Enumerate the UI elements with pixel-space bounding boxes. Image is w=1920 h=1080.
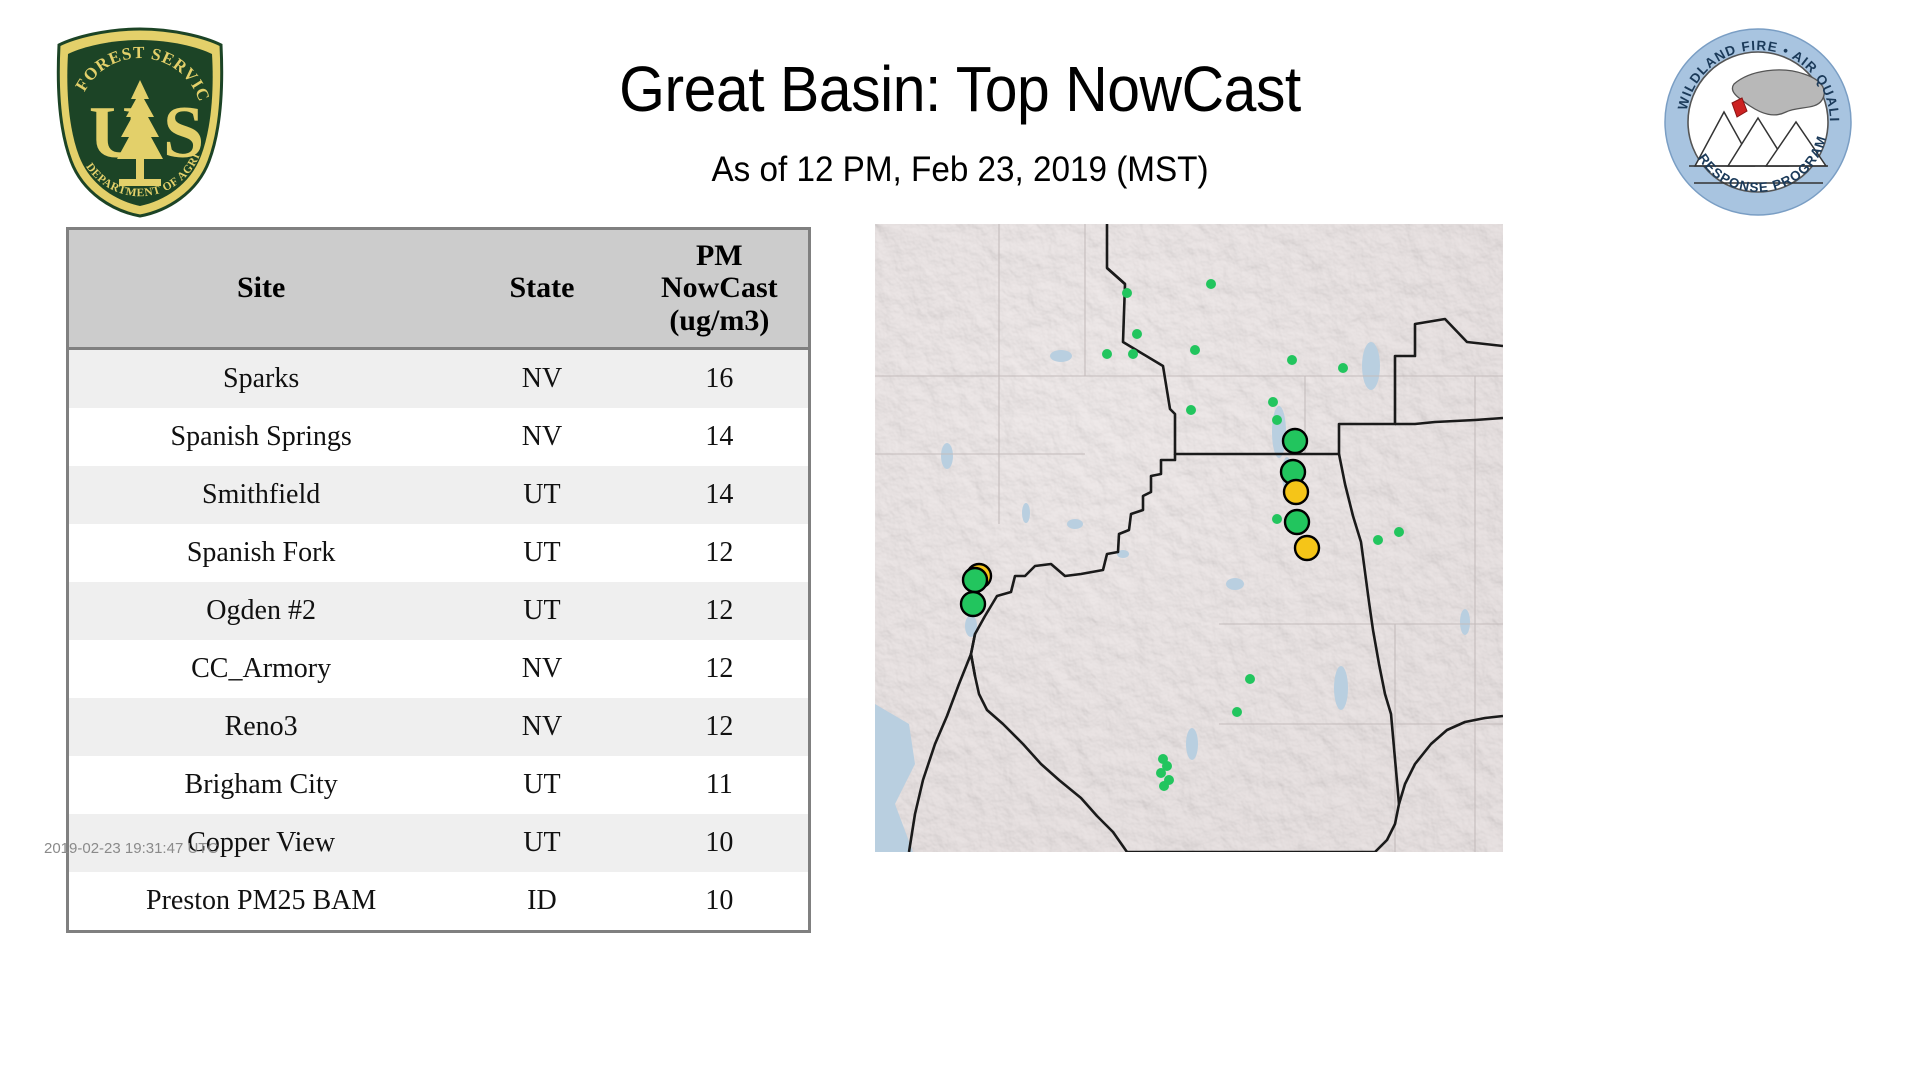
cell-pm-nowcast: 14 bbox=[631, 408, 808, 466]
cell-site: Brigham City bbox=[69, 756, 453, 814]
monitor-marker[interactable] bbox=[1272, 415, 1282, 425]
monitor-marker[interactable] bbox=[1272, 514, 1282, 524]
monitor-marker[interactable] bbox=[1156, 768, 1166, 778]
column-header-pm-line2: NowCast bbox=[661, 271, 778, 304]
monitor-marker[interactable] bbox=[1268, 397, 1278, 407]
table-row[interactable]: Spanish ForkUT12 bbox=[69, 524, 808, 582]
table-row[interactable]: Brigham CityUT11 bbox=[69, 756, 808, 814]
monitor-map-panel[interactable] bbox=[875, 224, 1503, 852]
cell-site: Reno3 bbox=[69, 698, 453, 756]
table-row[interactable]: SmithfieldUT14 bbox=[69, 466, 808, 524]
cell-pm-nowcast: 12 bbox=[631, 524, 808, 582]
monitor-marker[interactable] bbox=[961, 592, 985, 616]
page-subtitle: As of 12 PM, Feb 23, 2019 (MST) bbox=[48, 150, 1872, 190]
cell-site: Smithfield bbox=[69, 466, 453, 524]
cell-site: CC_Armory bbox=[69, 640, 453, 698]
cell-state: UT bbox=[453, 466, 630, 524]
monitor-marker[interactable] bbox=[1102, 349, 1112, 359]
table-row[interactable]: Ogden #2UT12 bbox=[69, 582, 808, 640]
cell-pm-nowcast: 12 bbox=[631, 640, 808, 698]
table-row[interactable]: SparksNV16 bbox=[69, 349, 808, 409]
cell-pm-nowcast: 12 bbox=[631, 698, 808, 756]
cell-pm-nowcast: 12 bbox=[631, 582, 808, 640]
monitor-marker[interactable] bbox=[1206, 279, 1216, 289]
cell-state: ID bbox=[453, 872, 630, 930]
monitor-marker[interactable] bbox=[1122, 288, 1132, 298]
monitor-marker[interactable] bbox=[1394, 527, 1404, 537]
monitor-marker[interactable] bbox=[1186, 405, 1196, 415]
monitor-marker[interactable] bbox=[1159, 781, 1169, 791]
cell-state: NV bbox=[453, 698, 630, 756]
cell-pm-nowcast: 11 bbox=[631, 756, 808, 814]
cell-state: UT bbox=[453, 756, 630, 814]
wildland-fire-air-quality-logo: WILDLAND FIRE • AIR QUALITY RESPONSE PRO… bbox=[1662, 26, 1854, 218]
page-header: FOREST SERVICE DEPARTMENT OF AGRICULTURE… bbox=[0, 0, 1920, 215]
monitor-marker[interactable] bbox=[1245, 674, 1255, 684]
monitor-marker[interactable] bbox=[1190, 345, 1200, 355]
cell-state: UT bbox=[453, 582, 630, 640]
column-header-site: Site bbox=[69, 230, 453, 349]
table-row[interactable]: Spanish SpringsNV14 bbox=[69, 408, 808, 466]
great-basin-map[interactable] bbox=[875, 224, 1503, 852]
column-header-pm-line3: (ug/m3) bbox=[669, 304, 769, 337]
cell-site: Preston PM25 BAM bbox=[69, 872, 453, 930]
cell-site: Spanish Fork bbox=[69, 524, 453, 582]
monitor-marker[interactable] bbox=[1232, 707, 1242, 717]
column-header-pm-line1: PM bbox=[696, 239, 743, 272]
monitor-marker[interactable] bbox=[1295, 536, 1319, 560]
monitor-marker[interactable] bbox=[1338, 363, 1348, 373]
cell-pm-nowcast: 16 bbox=[631, 349, 808, 409]
cell-state: NV bbox=[453, 349, 630, 409]
column-header-state: State bbox=[453, 230, 630, 349]
column-header-pm-nowcast: PM NowCast (ug/m3) bbox=[631, 230, 808, 349]
footer-timestamp: 2019-02-23 19:31:47 UTC bbox=[44, 840, 218, 857]
monitor-marker[interactable] bbox=[1287, 355, 1297, 365]
monitor-marker[interactable] bbox=[1284, 480, 1308, 504]
monitor-marker[interactable] bbox=[1132, 329, 1142, 339]
cell-pm-nowcast: 10 bbox=[631, 872, 808, 930]
table-header-row: Site State PM NowCast (ug/m3) bbox=[69, 230, 808, 349]
cell-state: NV bbox=[453, 640, 630, 698]
cell-state: UT bbox=[453, 814, 630, 872]
column-header-state-label: State bbox=[509, 271, 574, 304]
monitor-marker[interactable] bbox=[1283, 429, 1307, 453]
monitor-marker[interactable] bbox=[1373, 535, 1383, 545]
monitor-marker[interactable] bbox=[1285, 510, 1309, 534]
table-row[interactable]: Reno3NV12 bbox=[69, 698, 808, 756]
page-title: Great Basin: Top NowCast bbox=[77, 52, 1843, 126]
monitor-marker[interactable] bbox=[963, 568, 987, 592]
top-nowcast-table: Site State PM NowCast (ug/m3) SparksNV16… bbox=[66, 227, 811, 933]
cell-state: UT bbox=[453, 524, 630, 582]
cell-state: NV bbox=[453, 408, 630, 466]
cell-site: Sparks bbox=[69, 349, 453, 409]
column-header-site-label: Site bbox=[237, 271, 285, 304]
table-row[interactable]: CC_ArmoryNV12 bbox=[69, 640, 808, 698]
cell-site: Spanish Springs bbox=[69, 408, 453, 466]
cell-site: Ogden #2 bbox=[69, 582, 453, 640]
cell-pm-nowcast: 14 bbox=[631, 466, 808, 524]
table-row[interactable]: Preston PM25 BAMID10 bbox=[69, 872, 808, 930]
cell-pm-nowcast: 10 bbox=[631, 814, 808, 872]
monitor-marker[interactable] bbox=[1128, 349, 1138, 359]
